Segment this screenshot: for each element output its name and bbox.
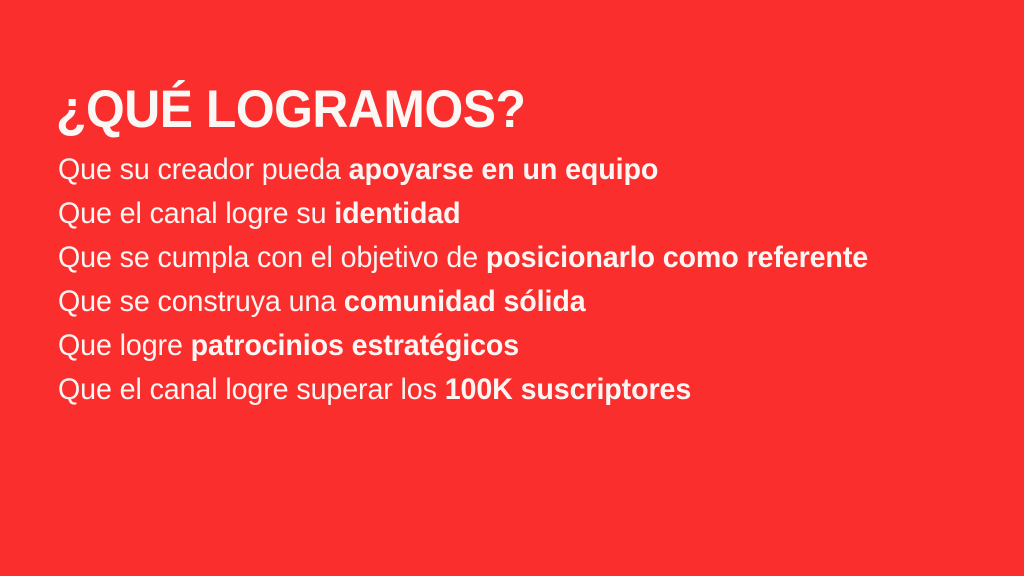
page-title: ¿QUÉ LOGRAMOS? <box>56 82 525 138</box>
list-item: Que el canal logre su identidad <box>58 192 960 236</box>
list-item-highlight-text: comunidad sólida <box>344 285 586 318</box>
list-item-lead-text: Que se construya una <box>58 285 344 318</box>
list-item-highlight-text: patrocinios estratégicos <box>191 329 519 362</box>
list-item-lead-text: Que el canal logre su <box>58 197 334 230</box>
list-item-highlight-text: identidad <box>334 197 460 230</box>
list-item: Que su creador pueda apoyarse en un equi… <box>58 148 960 192</box>
list-item: Que el canal logre superar los 100K susc… <box>58 368 960 412</box>
list-item: Que logre patrocinios estratégicos <box>58 324 960 368</box>
achievements-list: Que su creador pueda apoyarse en un equi… <box>58 148 988 412</box>
slide-canvas: ¿QUÉ LOGRAMOS? Que su creador pueda apoy… <box>0 0 1024 576</box>
list-item-lead-text: Que se cumpla con el objetivo de <box>58 241 486 274</box>
list-item: Que se cumpla con el objetivo de posicio… <box>58 236 960 280</box>
list-item-lead-text: Que logre <box>58 329 191 362</box>
list-item-highlight-text: posicionarlo como referente <box>486 241 868 274</box>
list-item-lead-text: Que su creador pueda <box>58 153 349 186</box>
list-item-lead-text: Que el canal logre superar los <box>58 373 445 406</box>
list-item-highlight-text: apoyarse en un equipo <box>349 153 659 186</box>
list-item-highlight-text: 100K suscriptores <box>445 373 691 406</box>
list-item: Que se construya una comunidad sólida <box>58 280 960 324</box>
